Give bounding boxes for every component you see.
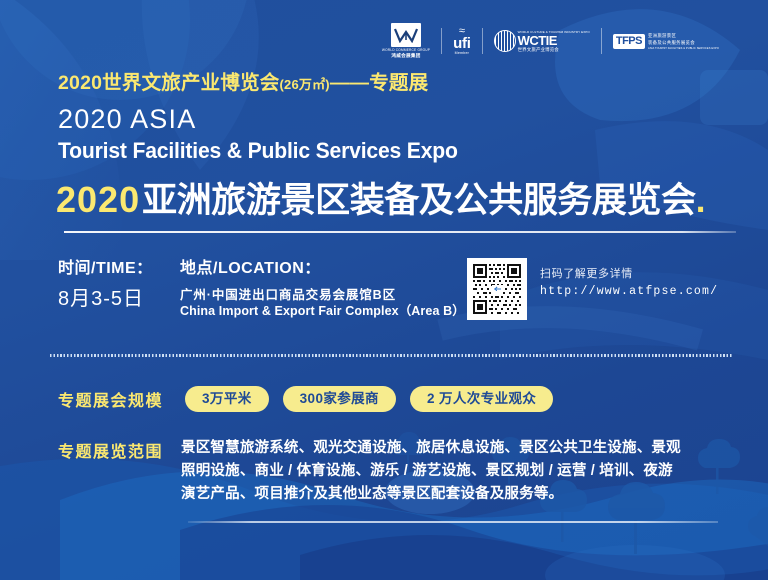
location-label: 地点/LOCATION： (180, 258, 465, 280)
scale-pill-exhibitors: 300家参展商 (283, 386, 396, 412)
headline-block: 2020世界文旅产业博览会(26万㎡)——专题展 2020 ASIA Touri… (58, 72, 483, 165)
title-underline (64, 231, 736, 233)
location-column: 地点/LOCATION： 广州·中国进出口商品交易会展馆B区 China Imp… (180, 258, 465, 319)
tfps-line3: ASIA TOURIST FACILITIES & PUBLIC SERVICE… (648, 47, 719, 50)
main-title-dot: . (696, 181, 706, 221)
qr-caption: 扫码了解更多详情 (540, 266, 718, 283)
main-title: 2020 亚洲旅游景区装备及公共服务展览会 . (56, 181, 705, 221)
headline-cn-area: (26万㎡) (279, 77, 329, 92)
qr-url[interactable]: http://www.atfpse.com/ (540, 283, 718, 300)
ufi-member-logo: ≈ ufi Member (442, 22, 481, 60)
w-logo-cn: 鸿威会展集团 (391, 53, 420, 59)
bottom-divider (188, 521, 718, 523)
scale-pill-area: 3万平米 (185, 386, 269, 412)
headline-asia: 2020 ASIA (58, 102, 483, 136)
w-exhibition-group-logo: WORLD COMMERCE GROUP 鸿威会展集团 (371, 22, 441, 60)
tfps-line1: 亚洲旅游景区 (648, 33, 719, 39)
scale-row: 专题展会规模 3万平米 300家参展商 2 万人次专业观众 (58, 386, 553, 412)
partner-logo-bar: WORLD COMMERCE GROUP 鸿威会展集团 ≈ ufi Member… (371, 22, 730, 60)
tfpse-logo: TFPS 亚洲旅游景区 装备及公共服务展览会 ASIA TOURIST FACI… (602, 22, 730, 60)
headline-cn-tail: ——专题展 (330, 72, 429, 94)
time-value: 8月3-5日 (58, 285, 180, 313)
scope-text: 景区智慧旅游系统、观光交通设施、旅居休息设施、景区公共卫生设施、景观照明设施、商… (181, 437, 686, 506)
scale-label: 专题展会规模 (58, 387, 163, 411)
location-value-en: China Import & Export Fair Complex（Area … (180, 304, 465, 319)
exhibition-poster: WORLD COMMERCE GROUP 鸿威会展集团 ≈ ufi Member… (0, 0, 768, 580)
headline-chinese: 2020世界文旅产业博览会(26万㎡)——专题展 (58, 72, 483, 96)
time-column: 时间/TIME： 8月3-5日 (58, 258, 180, 319)
qr-caption-block: 扫码了解更多详情 http://www.atfpse.com/ (540, 266, 718, 300)
wctie-label: WCTIE (518, 34, 590, 47)
w-logo-sub: WORLD COMMERCE GROUP (382, 48, 430, 52)
tfps-line2: 装备及公共服务展览会 (648, 40, 719, 46)
main-title-chinese: 亚洲旅游景区装备及公共服务展览会 (142, 182, 696, 220)
main-title-year: 2020 (56, 181, 140, 219)
wctie-logo: WORLD CULTURE & TOURISM INDUSTRY EXPO WC… (483, 22, 601, 60)
location-value-cn: 广州·中国进出口商品交易会展馆B区 (180, 287, 465, 304)
ufi-label: ufi (453, 36, 470, 51)
event-meta: 时间/TIME： 8月3-5日 地点/LOCATION： 广州·中国进出口商品交… (58, 258, 465, 319)
scale-pill-visitors: 2 万人次专业观众 (410, 386, 553, 412)
tfps-mark: TFPS (613, 34, 645, 49)
ufi-sub: Member (455, 51, 469, 55)
dotted-divider (50, 354, 732, 357)
w-mark-icon (391, 23, 421, 47)
scope-row: 专题展览范围 景区智慧旅游系统、观光交通设施、旅居休息设施、景区公共卫生设施、景… (58, 437, 686, 506)
headline-cn-main: 2020世界文旅产业博览会 (58, 72, 279, 94)
scale-pill-group: 3万平米 300家参展商 2 万人次专业观众 (185, 386, 553, 412)
time-label: 时间/TIME： (58, 258, 180, 280)
headline-english: Tourist Facilities & Public Services Exp… (58, 137, 458, 165)
qr-code-block[interactable] (467, 258, 527, 320)
wctie-cn: 世界文旅产业博览会 (518, 47, 590, 53)
qr-code-icon[interactable] (467, 258, 527, 320)
globe-icon (494, 30, 516, 52)
scope-label: 专题展览范围 (58, 438, 163, 506)
